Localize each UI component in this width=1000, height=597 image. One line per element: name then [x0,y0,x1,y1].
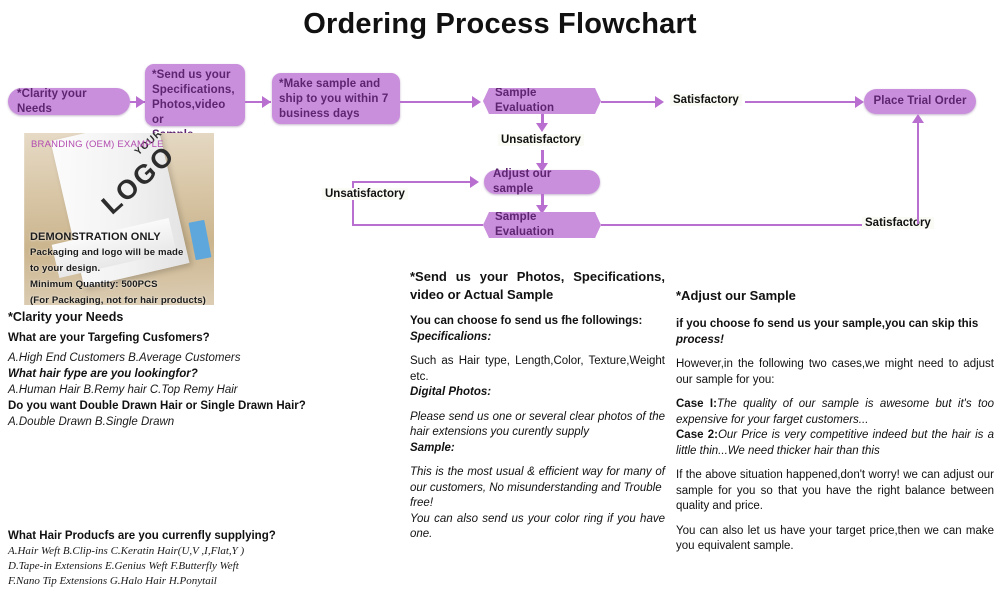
clarify-answer-1: A.High End Customers B.Average Customers [8,350,398,366]
arrow-clarify-to-send [136,96,145,108]
flow-node-eval1[interactable]: Sample Evaluation [483,88,601,114]
connector-eval2-to-satisfactory [601,224,862,226]
arrow-feedback-to-adjust [470,176,479,188]
flow-node-clarify[interactable]: *Clarity your Needs [8,88,130,115]
flow-node-clarify-label: *Clarity your Needs [17,87,121,117]
connector-eval1-to-satisfactory [601,101,661,103]
column-send-photos: *Send us your Photos, Specifications, vi… [410,268,665,552]
arrow-send-to-make [262,96,271,108]
send-photos-body-digital-photos: Please send us one or several clear phot… [410,410,665,441]
flow-node-send-line-3: Photos,video or [152,98,238,128]
send-photos-body-color-ring: You can also send us your color ring if … [410,512,665,543]
flow-node-place-trial-order[interactable]: Place Trial Order [864,89,976,114]
photo-branding-label: BRANDING (OEM) EXAMPLE [31,139,164,150]
photo-overlay-line-1: DEMONSTRATION ONLY [30,231,161,243]
connector-feedback-to-adjust [352,181,474,183]
send-photos-sub-digital-photos: Digital Photos: [410,385,665,401]
send-photos-sub-specifications: Specificalions: [410,330,665,346]
arrow-eval1-to-satisfactory [655,96,664,108]
edge-label-unsatisfactory-down: Unsatisfactory [498,134,584,146]
connector-satisfactory-to-place [745,101,861,103]
flow-node-send[interactable]: *Send us your Specifications, Photos,vid… [145,64,245,126]
connector-satisfactory-bottom-up [917,123,919,224]
adjust-case-2: Case 2:Our Price is very competitive ind… [676,428,994,459]
adjust-target-price-text: You can also let us have your target pri… [676,524,994,555]
photo-overlay-line-5: (For Packaging, not for hair products) [30,295,206,305]
send-photos-body-sample: This is the most usual & efficient way f… [410,465,665,496]
branding-example-photo: YOUR LOGO BRANDING (OEM) EXAMPLE DEMONST… [24,133,214,305]
arrow-eval1-down [536,123,548,132]
products-question: What Hair Producfs are you currenfly sup… [8,528,398,544]
send-photos-body-free: free! [410,496,665,512]
flow-node-make-line-1: *Make sample and [279,77,393,92]
connector-eval2-feedback-bottom [352,224,483,226]
products-answer-a: A.Hair Weft B.Clip-ins C.Keratin Hair(U,… [8,544,398,559]
flow-node-make-line-2: ship to you within 7 [279,92,393,107]
photo-overlay-line-2: Packaging and logo will be made [30,247,183,259]
flow-node-place-label: Place Trial Order [873,94,966,109]
connector-make-to-eval1 [400,101,478,103]
flow-node-adjust[interactable]: Adjust our sample [484,170,600,194]
flowchart-page: Ordering Process Flowchart *Clarity your… [0,0,1000,597]
send-photos-heading: *Send us your Photos, Specifications, vi… [410,268,665,304]
photo-overlay-line-3: to your design. [30,263,100,275]
adjust-skip-process: process! [676,333,994,349]
clarify-question-3: Do you want Double Drawn Hair or Single … [8,398,398,414]
arrow-satisfactory-bottom-up [912,114,924,123]
flow-node-make-line-3: business days [279,107,393,122]
adjust-case-1: Case I:The quality of our sample is awes… [676,397,994,428]
send-photos-body-specifications: Such as Hair type, Length,Color, Texture… [410,354,665,385]
page-title: Ordering Process Flowchart [0,8,1000,41]
clarify-question-2: What hair fype are you lookingfor? [8,366,398,382]
adjust-case-2-label: Case 2: [676,429,718,441]
arrow-satisfactory-to-place [855,96,864,108]
adjust-case-1-text: The quality of our sample is awesome but… [676,398,994,426]
clarify-answer-3: A.Double Drawn B.Single Drawn [8,414,398,430]
adjust-however-text: However,in the following two cases,we mi… [676,357,994,388]
adjust-balance-text: If the above situation happened,don't wo… [676,468,994,515]
flow-node-eval2-label: Sample Evaluation [495,210,589,240]
send-photos-sub-sample: Sample: [410,441,665,457]
product-blue-tab [189,220,212,260]
flow-node-eval1-label: Sample Evaluation [495,86,589,116]
flow-node-send-line-1: *Send us your [152,68,238,83]
flow-node-adjust-label: Adjust our sample [493,167,591,197]
adjust-case-2-text: Our Price is very competitive indeed but… [676,429,994,457]
edge-label-satisfactory-bottom: Satisfactory [862,217,934,229]
products-answer-b: D.Tape-in Extensions E.Genius Weft F.But… [8,559,398,574]
edge-label-unsatisfactory-back: Unsatisfactory [322,188,408,200]
flow-node-eval2[interactable]: Sample Evaluation [483,212,601,238]
clarify-question-1: What are your Targefing Cusfomers? [8,330,398,346]
clarify-heading: *Clarity your Needs [8,310,398,324]
photo-overlay-line-4: Minimum Quantity: 500PCS [30,279,158,291]
arrow-make-to-eval1 [472,96,481,108]
adjust-heading: *Adjust our Sample [676,288,994,303]
column-clarify-needs: *Clarity your Needs What are your Targef… [8,310,398,430]
column-hair-products: What Hair Producfs are you currenfly sup… [8,528,398,589]
edge-label-satisfactory-top: Satisfactory [670,94,742,106]
products-answer-c: F.Nano Tip Extensions G.Halo Hair H.Pony… [8,574,398,589]
column-adjust-sample: *Adjust our Sample if you choose fo send… [676,288,994,564]
adjust-skip-text: if you choose fo send us your sample,you… [676,317,994,333]
flow-node-make[interactable]: *Make sample and ship to you within 7 bu… [272,73,400,124]
send-photos-intro: You can choose fo send us fhe followings… [410,314,665,330]
adjust-case-1-label: Case I: [676,398,717,410]
clarify-answer-2: A.Human Hair B.Remy hair C.Top Remy Hair [8,382,398,398]
flow-node-send-line-2: Specifications, [152,83,238,98]
